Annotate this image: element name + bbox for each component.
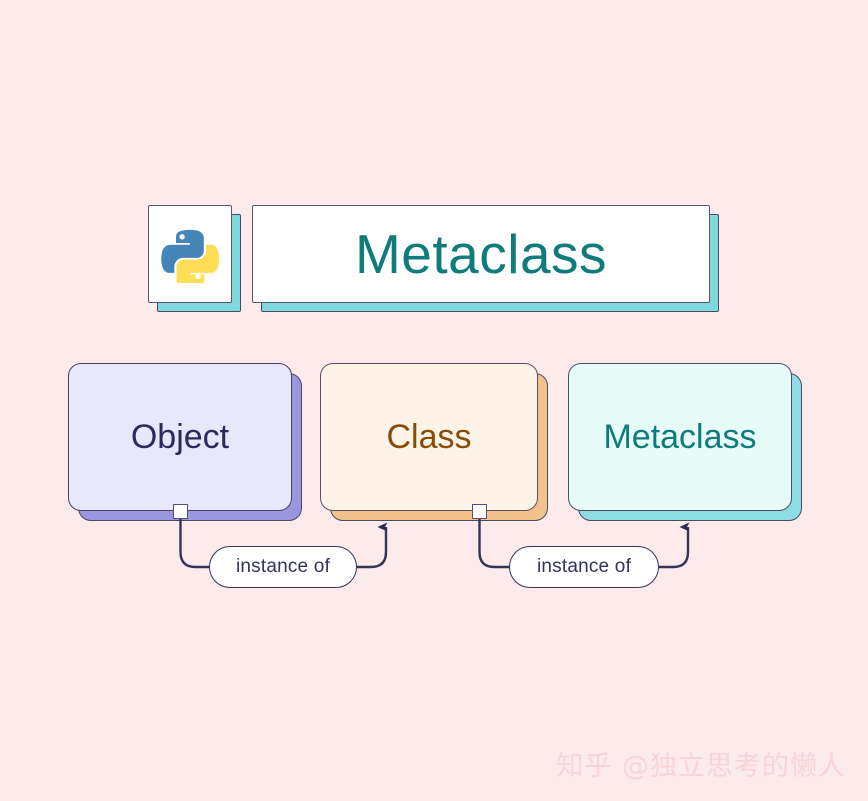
connector-class-to-metaclass-arrow [659, 527, 688, 567]
page-title: Metaclass [355, 227, 607, 282]
header-icon-card-face [148, 205, 232, 303]
python-logo-icon [161, 225, 219, 283]
connector-class-to-metaclass-stem [480, 519, 510, 567]
header-title-card-face: Metaclass [252, 205, 710, 303]
concept-box-object[interactable]: Object [68, 363, 292, 511]
header-title-card: Metaclass [252, 205, 710, 303]
connector-object-to-class-stem [181, 519, 210, 567]
concept-box-object-label: Object [131, 420, 229, 454]
concept-box-metaclass-label: Metaclass [603, 420, 756, 454]
concept-box-metaclass[interactable]: Metaclass [568, 363, 792, 511]
connector-label-object-to-class-text: instance of [236, 556, 330, 578]
concept-box-object-face: Object [68, 363, 292, 511]
connector-label-class-to-metaclass[interactable]: instance of [509, 546, 659, 588]
concept-box-class-label: Class [386, 420, 471, 454]
connector-object-to-class-arrow [357, 527, 386, 567]
connector-handle-object[interactable] [173, 504, 188, 519]
concept-box-metaclass-face: Metaclass [568, 363, 792, 511]
connector-label-object-to-class[interactable]: instance of [209, 546, 357, 588]
concept-box-class-face: Class [320, 363, 538, 511]
concept-box-class[interactable]: Class [320, 363, 538, 511]
connector-label-class-to-metaclass-text: instance of [537, 556, 631, 578]
connector-handle-class[interactable] [472, 504, 487, 519]
header-icon-card [148, 205, 232, 303]
diagram-canvas: Metaclass Object Class Metaclass [0, 0, 868, 801]
watermark: 知乎 @独立思考的懒人 [556, 744, 846, 783]
